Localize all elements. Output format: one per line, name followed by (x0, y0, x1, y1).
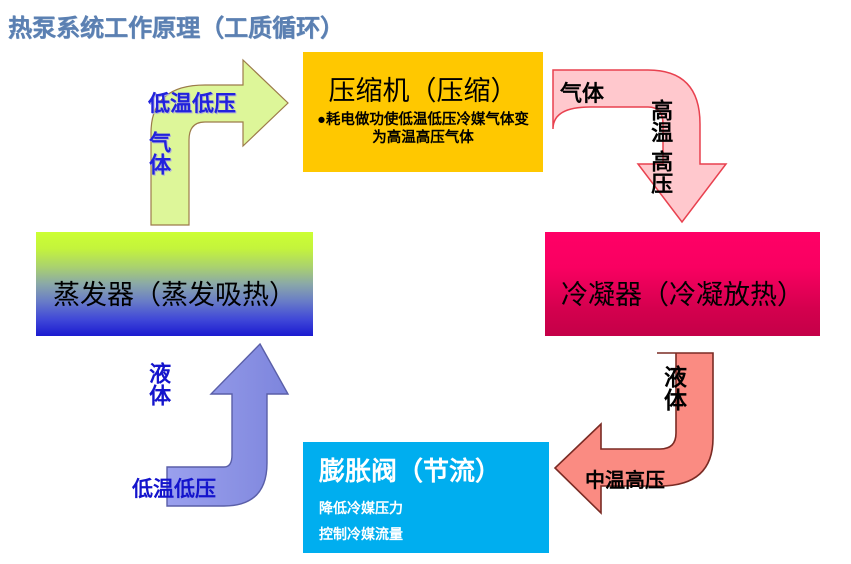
arrow-label-compressor-to-condenser-condition-2: 高压 (648, 150, 671, 194)
arrow-label-condenser-to-expansion-state: 液体 (661, 365, 684, 411)
arrow-label-expansion-to-evaporator-state: 液体 (146, 362, 169, 406)
node-condenser[interactable]: 冷凝器（冷凝放热） (545, 232, 820, 336)
arrow-label-evaporator-to-compressor-condition: 低温低压 (148, 86, 236, 118)
arrow-evaporator-to-compressor (151, 60, 288, 225)
expansion-valve-title: 膨胀阀（节流） (319, 451, 501, 488)
arrow-label-evaporator-to-compressor-state: 气体 (146, 131, 169, 175)
node-evaporator[interactable]: 蒸发器（蒸发吸热） (36, 232, 313, 336)
arrow-label-compressor-to-condenser-condition-1: 高温 (648, 99, 671, 143)
node-expansion-valve[interactable]: 膨胀阀（节流） 降低冷媒压力 控制冷媒流量 (303, 442, 549, 553)
diagram-canvas: 热泵系统工作原理（工质循环） 压缩机（压缩） ●耗电做功使低温低压冷媒气体变为高… (0, 0, 851, 564)
expansion-valve-line-2: 控制冷媒流量 (319, 524, 403, 544)
arrow-label-expansion-to-evaporator-condition: 低温低压 (132, 473, 216, 503)
arrow-label-condenser-to-expansion-condition: 中温高压 (585, 464, 665, 493)
arrow-label-compressor-to-condenser-state: 气体 (560, 76, 604, 108)
compressor-title: 压缩机（压缩） (329, 77, 518, 107)
node-compressor[interactable]: 压缩机（压缩） ●耗电做功使低温低压冷媒气体变为高温高压气体 (303, 52, 543, 172)
evaporator-title: 蒸发器（蒸发吸热） (53, 273, 296, 312)
expansion-valve-line-1: 降低冷媒压力 (319, 498, 403, 518)
compressor-description: ●耗电做功使低温低压冷媒气体变为高温高压气体 (315, 111, 531, 147)
page-title: 热泵系统工作原理（工质循环） (8, 8, 344, 43)
condenser-title: 冷凝器（冷凝放热） (561, 273, 804, 312)
